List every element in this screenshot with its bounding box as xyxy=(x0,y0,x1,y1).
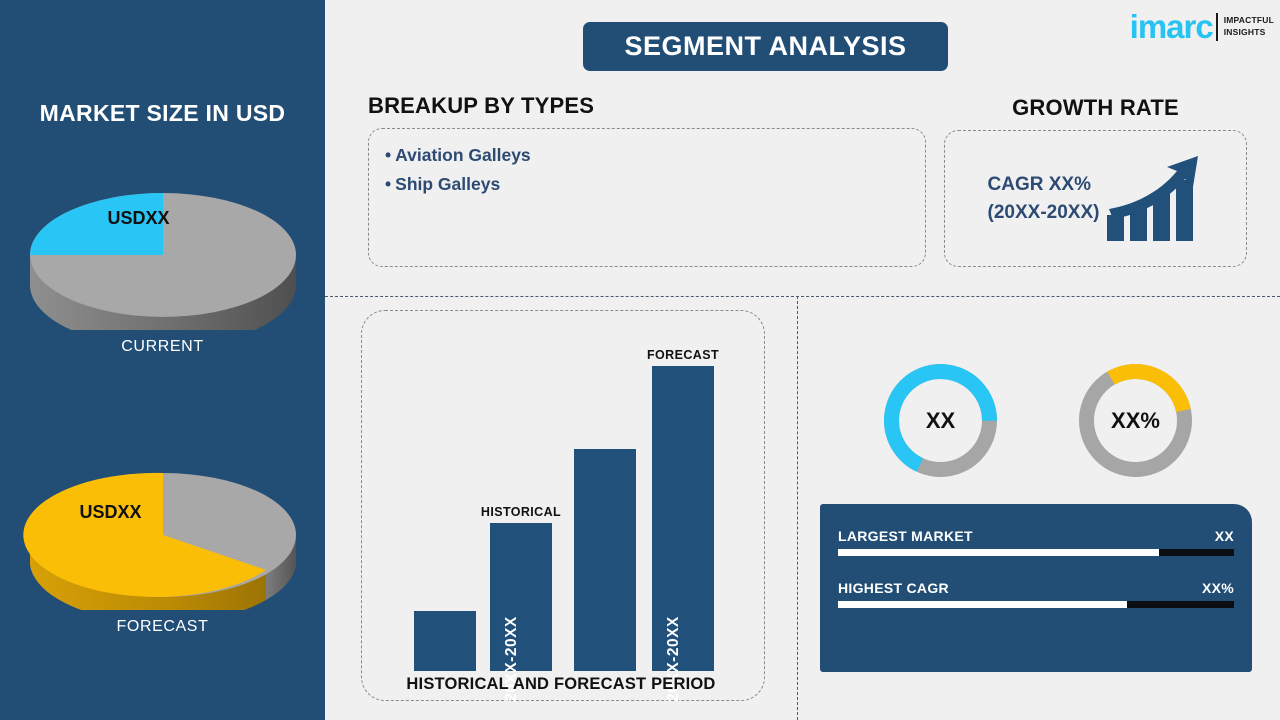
donut-yellow-label: XX% xyxy=(1073,358,1198,483)
stat-top: HIGHEST CAGR XX% xyxy=(838,580,1234,596)
bars-area: 20XX-20XX HISTORICAL 20XX-20XX FORECAST xyxy=(362,311,766,702)
sidebar: MARKET SIZE IN USD CURRENT xyxy=(0,0,325,720)
type-item-aviation-galleys: •Aviation Galleys xyxy=(385,141,909,170)
header: SEGMENT ANALYSIS imarc IMPACTFUL INSIGHT… xyxy=(325,0,1280,90)
growth-cagr-line1: CAGR XX% xyxy=(988,174,1091,195)
stat-progress-fill xyxy=(838,549,1159,556)
vertical-divider xyxy=(797,296,798,720)
stat-label: HIGHEST CAGR xyxy=(838,580,949,596)
stat-top: LARGEST MARKET XX xyxy=(838,528,1234,544)
bar-1 xyxy=(414,611,476,671)
type-item-ship-galleys: •Ship Galleys xyxy=(385,170,909,199)
bar-4: 20XX-20XX xyxy=(652,366,714,671)
stat-row-largest-market: LARGEST MARKET XX xyxy=(838,528,1234,556)
page-title-badge: SEGMENT ANALYSIS xyxy=(583,22,948,71)
highest-cagr-donut: XX% xyxy=(1073,358,1198,488)
market-size-forecast-chart: FORECAST USDXX xyxy=(0,440,325,636)
barchart-caption: HISTORICAL AND FORECAST PERIOD xyxy=(325,675,797,694)
stat-value: XX% xyxy=(1202,580,1234,596)
logo-divider xyxy=(1216,13,1218,41)
growth-heading: GROWTH RATE xyxy=(944,95,1247,121)
growth-cagr-line2: (20XX-20XX) xyxy=(988,202,1100,223)
historical-forecast-chart: 20XX-20XX HISTORICAL 20XX-20XX FORECAST xyxy=(361,310,765,701)
logo-tagline-line1: IMPACTFUL xyxy=(1224,15,1274,25)
pie-caption-forecast: FORECAST xyxy=(0,618,325,636)
horizontal-divider xyxy=(325,296,1280,297)
logo-tagline-line2: INSIGHTS xyxy=(1224,27,1266,37)
types-heading: BREAKUP BY TYPES xyxy=(368,93,926,119)
bullet-icon: • xyxy=(385,145,391,165)
pie-caption-current: CURRENT xyxy=(0,338,325,356)
stat-progress-fill xyxy=(838,601,1127,608)
types-box: •Aviation Galleys •Ship Galleys xyxy=(368,128,926,267)
bar-4-top-label: FORECAST xyxy=(647,348,719,362)
type-label: Ship Galleys xyxy=(395,174,500,194)
market-size-current-chart: CURRENT USDXX xyxy=(0,160,325,356)
growth-cagr-text: CAGR XX% (20XX-20XX) xyxy=(988,171,1100,226)
stat-label: LARGEST MARKET xyxy=(838,528,973,544)
logo-wordmark: imarc xyxy=(1130,10,1213,43)
stat-progress-track xyxy=(838,549,1234,556)
logo-tagline: IMPACTFUL INSIGHTS xyxy=(1224,15,1274,38)
largest-market-donut: XX xyxy=(878,358,1003,488)
stat-row-highest-cagr: HIGHEST CAGR XX% xyxy=(838,580,1234,608)
page-title: SEGMENT ANALYSIS xyxy=(624,31,906,62)
donut-cyan-label: XX xyxy=(878,358,1003,483)
sidebar-title: MARKET SIZE IN USD xyxy=(0,100,325,127)
type-label: Aviation Galleys xyxy=(395,145,531,165)
infographic-page: MARKET SIZE IN USD CURRENT xyxy=(0,0,1280,720)
bullet-icon: • xyxy=(385,174,391,194)
bar-2: 20XX-20XX xyxy=(490,523,552,671)
pie-3d-current xyxy=(18,160,308,330)
market-stats-panel: LARGEST MARKET XX HIGHEST CAGR XX% xyxy=(820,504,1252,672)
stat-progress-track xyxy=(838,601,1234,608)
stat-value: XX xyxy=(1215,528,1234,544)
growth-rate-section: GROWTH RATE CAGR XX% (20XX-20XX) xyxy=(944,95,1247,267)
bar-3 xyxy=(574,449,636,671)
breakup-by-types-section: BREAKUP BY TYPES •Aviation Galleys •Ship… xyxy=(368,93,926,267)
growth-bars-arrow-icon xyxy=(1105,153,1203,245)
bar-2-top-label: HISTORICAL xyxy=(481,505,561,519)
growth-box: CAGR XX% (20XX-20XX) xyxy=(944,130,1247,267)
imarc-logo: imarc IMPACTFUL INSIGHTS xyxy=(1130,10,1274,43)
pie-3d-forecast xyxy=(18,440,308,610)
